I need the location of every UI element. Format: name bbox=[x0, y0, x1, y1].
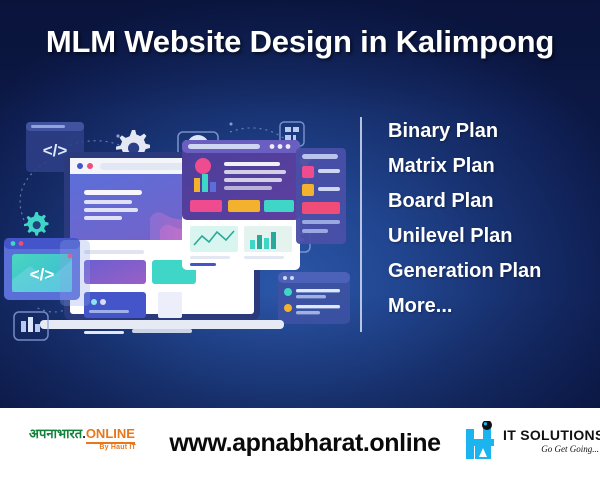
page-title: MLM Website Design in Kalimpong bbox=[0, 24, 600, 60]
plan-item-more: More... bbox=[388, 289, 588, 324]
svg-text:</>: </> bbox=[43, 141, 68, 160]
code-card: </> bbox=[4, 238, 90, 306]
side-panel-card bbox=[296, 148, 346, 244]
plan-item: Binary Plan bbox=[388, 114, 588, 149]
apnabharat-byline: By Haut IT bbox=[26, 444, 138, 451]
apnabharat-hindi-text: अपनाभारत bbox=[29, 426, 82, 441]
gear-small-icon bbox=[24, 212, 48, 236]
apnabharat-logo[interactable]: अपनाभारत.ONLINE By Haut IT bbox=[26, 426, 138, 451]
it-solutions-tagline: Go Get Going... bbox=[503, 444, 599, 454]
plan-item: Unilevel Plan bbox=[388, 219, 588, 254]
it-solutions-logo[interactable]: IT SOLUTIONS Go Get Going... bbox=[463, 421, 595, 465]
website-url[interactable]: www.apnabharat.online bbox=[150, 429, 460, 458]
plan-item: Board Plan bbox=[388, 184, 588, 219]
svg-text:</>: </> bbox=[30, 265, 55, 284]
promotional-banner: MLM Website Design in Kalimpong bbox=[0, 0, 600, 480]
apnabharat-online-text: ONLINE bbox=[86, 426, 135, 444]
vertical-divider bbox=[360, 117, 362, 332]
it-solutions-mark-icon bbox=[463, 421, 499, 463]
dashboard-card bbox=[182, 140, 300, 270]
contact-card bbox=[278, 272, 350, 324]
plan-item: Matrix Plan bbox=[388, 149, 588, 184]
it-solutions-text: IT SOLUTIONS Go Get Going... bbox=[503, 427, 599, 454]
plan-list: Binary Plan Matrix Plan Board Plan Unile… bbox=[388, 114, 588, 324]
apnabharat-logo-text: अपनाभारत.ONLINE bbox=[26, 426, 138, 441]
plan-item: Generation Plan bbox=[388, 254, 588, 289]
it-solutions-name: IT SOLUTIONS bbox=[503, 427, 599, 443]
web-design-illustration: </> bbox=[0, 90, 360, 350]
